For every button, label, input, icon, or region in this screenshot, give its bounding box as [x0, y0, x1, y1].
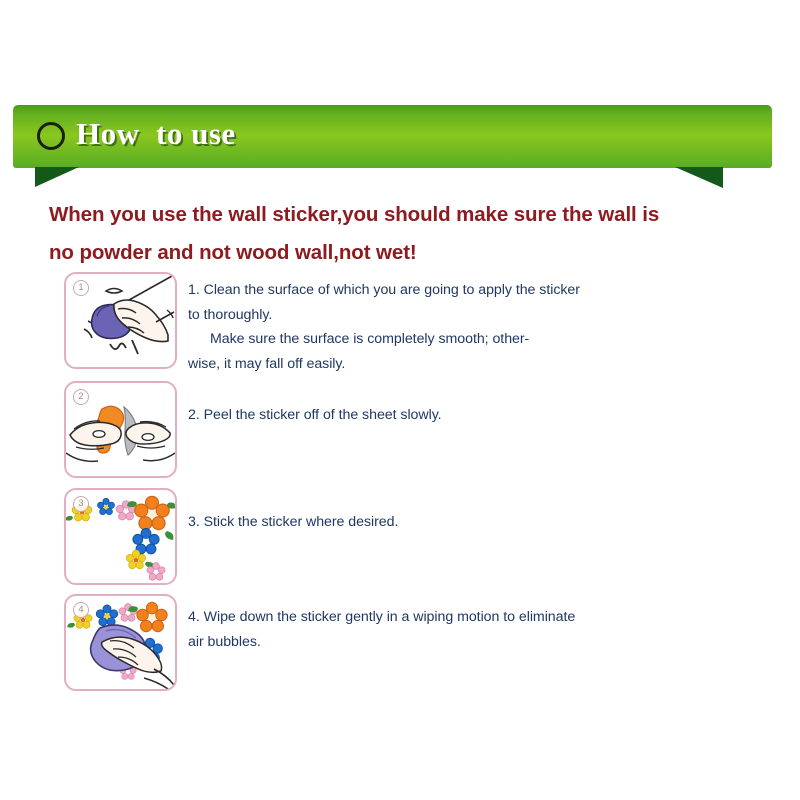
warning-heading: When you use the wall sticker,you should… — [49, 196, 689, 272]
step-badge: 3 — [73, 496, 89, 512]
step-3-illustration-panel: 3 — [64, 488, 177, 585]
circle-bullet-icon — [37, 122, 65, 150]
step-1-illustration-panel: 1 — [64, 272, 177, 369]
step-4-line-1: 4. Wipe down the sticker gently in a wip… — [188, 609, 515, 625]
step-badge: 4 — [73, 602, 89, 618]
step-badge: 2 — [73, 389, 89, 405]
step-badge: 1 — [73, 280, 89, 296]
step-1-text: 1. Clean the surface of which you are go… — [188, 278, 588, 376]
step-2-illustration-panel: 2 — [64, 381, 177, 478]
page-title: How to use — [76, 116, 236, 152]
step-1-line-4: wise, it may fall off easily. — [188, 356, 345, 372]
step-1-line-3: Make sure the surface is completely smoo… — [188, 327, 588, 352]
step-2-line-1: 2. Peel the sticker off of the sheet slo… — [188, 407, 442, 423]
header-banner: How to use — [13, 105, 772, 187]
step-3-text: 3. Stick the sticker where desired. — [188, 510, 588, 535]
step-2-text: 2. Peel the sticker off of the sheet slo… — [188, 403, 588, 428]
step-4-illustration-panel: 4 — [64, 594, 177, 691]
step-1-line-1: 1. Clean the surface of which you are go… — [188, 282, 512, 298]
step-3-line-1: 3. Stick the sticker where desired. — [188, 514, 398, 530]
step-4-text: 4. Wipe down the sticker gently in a wip… — [188, 605, 588, 654]
banner-tail-right-icon — [675, 167, 723, 188]
banner-tail-left-icon — [35, 167, 79, 187]
